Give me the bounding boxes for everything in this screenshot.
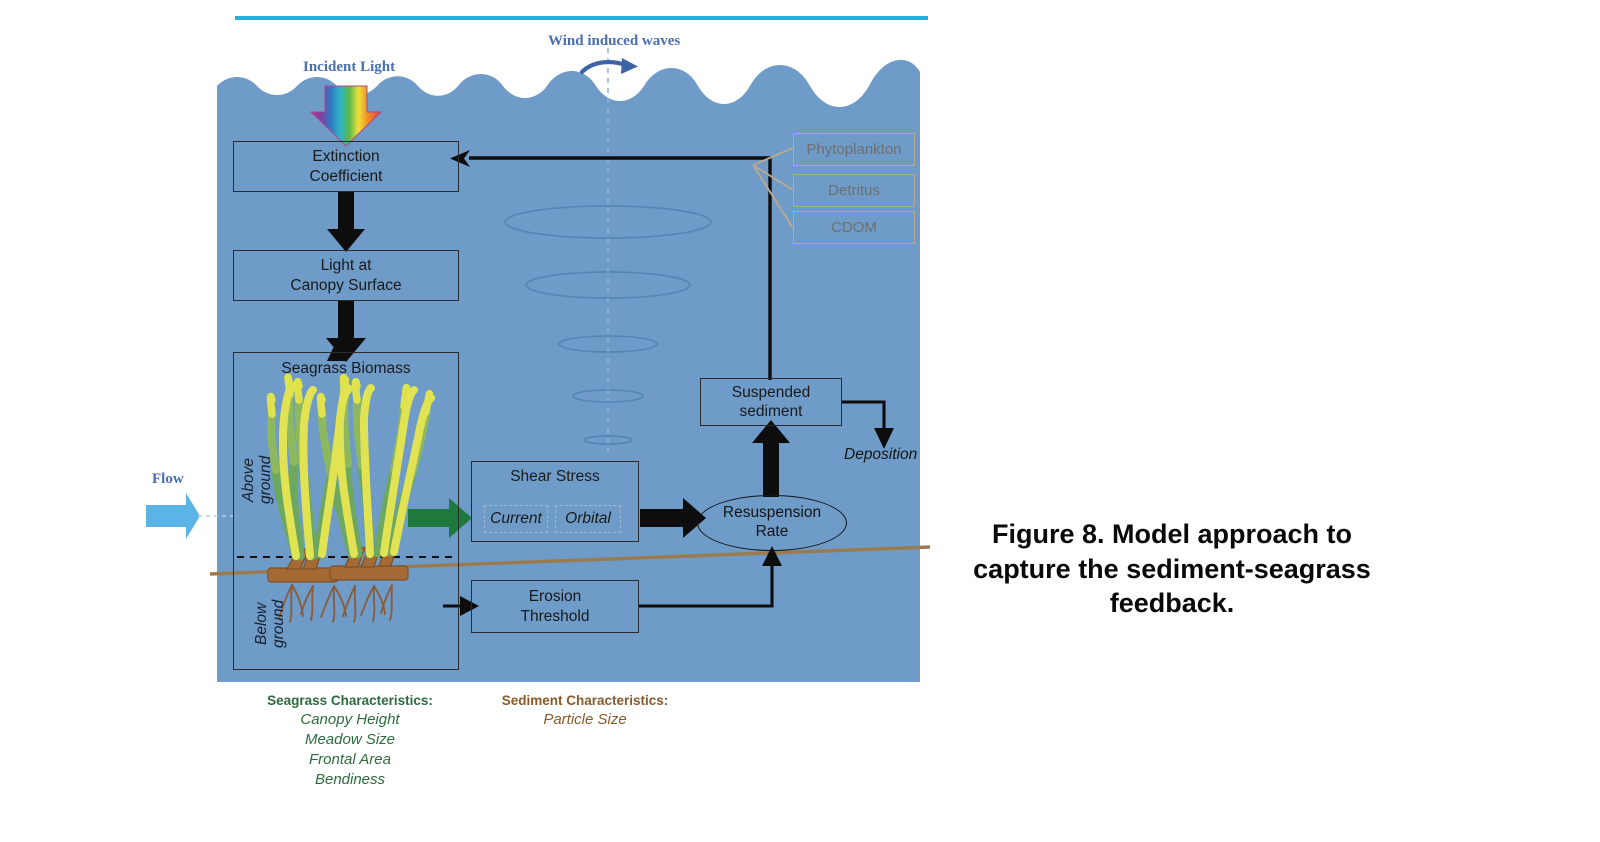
seagrass-characteristics-item: Meadow Size: [200, 730, 500, 750]
incident-light-arrow-icon: [311, 86, 381, 146]
figure-caption: Figure 8. Model approach to capture the …: [952, 517, 1392, 621]
node-shear-stress-current-label: Current: [490, 510, 542, 528]
node-extinction-coefficient-label: Extinction Coefficient: [310, 147, 383, 186]
node-light-at-canopy-surface-label: Light at Canopy Surface: [290, 256, 401, 295]
node-extinction-coefficient[interactable]: Extinction Coefficient: [233, 141, 459, 192]
node-suspended-sediment-label: Suspended sediment: [732, 383, 810, 422]
incident-light-label: Incident Light: [303, 59, 395, 76]
flow-arrow-icon: [146, 493, 200, 539]
node-erosion-threshold[interactable]: Erosion Threshold: [471, 580, 639, 633]
sediment-characteristics-heading: Sediment Characteristics:: [435, 692, 735, 710]
node-resuspension-rate[interactable]: Resuspension Rate: [697, 495, 847, 551]
node-suspended-sediment[interactable]: Suspended sediment: [700, 378, 842, 426]
node-shear-stress-orbital[interactable]: Orbital: [555, 505, 621, 533]
node-cdom[interactable]: CDOM: [793, 211, 915, 244]
node-phytoplankton-label: Phytoplankton: [806, 141, 901, 158]
node-phytoplankton[interactable]: Phytoplankton: [793, 133, 915, 166]
node-shear-stress-current[interactable]: Current: [484, 505, 548, 533]
deposition-label: Deposition: [844, 446, 920, 464]
below-ground-label: Below ground: [253, 578, 287, 670]
node-light-at-canopy-surface[interactable]: Light at Canopy Surface: [233, 250, 459, 301]
node-seagrass-biomass-label: Seagrass Biomass: [281, 359, 410, 378]
deposition-label-clip: Deposition: [844, 446, 920, 472]
wind-induced-waves-label: Wind induced waves: [548, 33, 680, 50]
seagrass-characteristics-item: Bendiness: [200, 770, 500, 790]
node-resuspension-rate-label: Resuspension Rate: [723, 504, 821, 541]
node-shear-stress-label: Shear Stress: [510, 467, 600, 486]
sediment-characteristics-item: Particle Size: [435, 710, 735, 730]
below-ground-text: Below ground: [253, 600, 287, 648]
sediment-characteristics: Sediment Characteristics: Particle Size: [435, 692, 735, 730]
node-detritus-label: Detritus: [828, 182, 880, 199]
node-detritus[interactable]: Detritus: [793, 174, 915, 207]
wind-curved-arrow-icon: [582, 58, 638, 74]
attenuator-connector-lines: [753, 148, 793, 228]
orbital-ellipse-stack: [505, 206, 711, 444]
node-cdom-label: CDOM: [831, 219, 877, 236]
figure-root: Incident Light Wind induced waves Flow E…: [0, 0, 1600, 842]
above-ground-label: Above ground: [240, 434, 274, 526]
node-shear-stress-orbital-label: Orbital: [565, 510, 611, 528]
flow-label: Flow: [152, 471, 184, 488]
top-accent-rule: [235, 16, 928, 20]
seagrass-characteristics-item: Frontal Area: [200, 750, 500, 770]
above-ground-text: Above ground: [240, 456, 274, 504]
node-erosion-threshold-label: Erosion Threshold: [521, 587, 590, 626]
